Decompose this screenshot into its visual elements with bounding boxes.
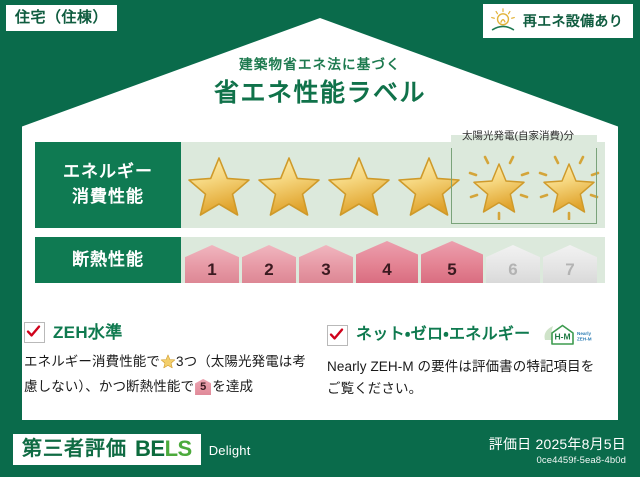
nze-checkbox: [327, 325, 348, 346]
nze-section-title: ネット・ゼロ・エネルギー: [356, 327, 530, 343]
solar-generation-note: 太陽光発電(自家消費)分: [443, 131, 593, 142]
star-1: [185, 150, 253, 220]
check-icon: [329, 327, 344, 342]
bels-logo-be: BE: [135, 436, 165, 461]
star-2: [255, 150, 323, 220]
star-3: [325, 150, 393, 220]
sun-icon: [489, 8, 517, 34]
energy-performance-row: エネルギー 消費性能: [35, 142, 605, 228]
zeh-text-part1: エネルギー消費性能で: [24, 354, 160, 369]
svg-text:ZEH-M: ZEH-M: [577, 337, 592, 342]
net-zero-energy-section: ネット・ゼロ・エネルギー H-M Nearly ZEH-M Nearly ZEH…: [321, 322, 618, 400]
svg-text:Nearly: Nearly: [577, 331, 591, 336]
bels-logo: BELS: [135, 438, 192, 460]
zeh-section-header: ZEH水準: [24, 322, 307, 343]
insulation-badges-panel: 1 2 3 4 5 6 7: [181, 237, 605, 283]
label-title-block: 建築物省エネ法に基づく 省エネ性能ラベル: [0, 58, 640, 106]
svg-text:H-M: H-M: [555, 332, 571, 342]
insulation-badge-2: 2: [242, 245, 296, 283]
zeh-checkbox: [24, 322, 45, 343]
bottom-info-columns: ZEH水準 エネルギー消費性能で 3つ（太陽光発電は考慮しない）、かつ断熱性能で…: [24, 322, 618, 400]
footer-right-block: 評価日 2025年8月5日 0ce4459f-5ea8-4b0d: [489, 437, 626, 466]
insulation-badge-7: 7: [543, 245, 597, 283]
insulation-badge-6: 6: [486, 245, 540, 283]
energy-performance-label: エネルギー 消費性能: [35, 142, 181, 228]
bels-logo-ls: LS: [165, 436, 192, 461]
company-name: Delight: [209, 443, 251, 458]
nze-section-header: ネット・ゼロ・エネルギー H-M Nearly ZEH-M: [327, 322, 604, 348]
evaluation-date-value: 2025年8月5日: [535, 436, 626, 452]
star-icon: [160, 353, 176, 376]
renewable-equipment-badge: 再エネ設備あり: [483, 4, 633, 38]
zeh-text-part3: を達成: [212, 379, 253, 394]
energy-label-line2: 消費性能: [72, 185, 144, 210]
insulation-badge-list: 1 2 3 4 5 6 7: [181, 237, 597, 283]
third-party-eval-label: 第三者評価: [22, 439, 127, 459]
zeh-inline-badge: 5: [195, 379, 211, 395]
evaluation-id: 0ce4459f-5ea8-4b0d: [489, 455, 626, 466]
star-6-solar: [535, 150, 603, 220]
insulation-performance-row: 断熱性能 1 2 3 4 5 6 7: [35, 237, 605, 283]
star-4: [395, 150, 463, 220]
insulation-label-text: 断熱性能: [72, 248, 144, 273]
nearly-zeh-m-logo: H-M Nearly ZEH-M: [542, 322, 596, 348]
zeh-standard-section: ZEH水準 エネルギー消費性能で 3つ（太陽光発電は考慮しない）、かつ断熱性能で…: [24, 322, 321, 400]
insulation-badge-5: 5: [421, 241, 483, 283]
energy-performance-stars-panel: 太陽光発電(自家消費)分: [181, 142, 605, 228]
bels-badge: 第三者評価 BELS: [13, 434, 201, 465]
energy-label-line1: エネルギー: [63, 160, 153, 185]
insulation-performance-label: 断熱性能: [35, 237, 181, 283]
check-icon: [26, 324, 41, 339]
metric-rows: エネルギー 消費性能: [35, 142, 605, 292]
footer-left-block: 第三者評価 BELS Delight: [13, 434, 251, 465]
evaluation-date: 評価日 2025年8月5日: [489, 437, 626, 452]
insulation-badge-3: 3: [299, 245, 353, 283]
evaluation-date-label: 評価日: [489, 436, 532, 452]
label-subtitle: 建築物省エネ法に基づく: [0, 58, 640, 72]
label-main-title: 省エネ性能ラベル: [0, 81, 640, 106]
insulation-badge-4: 4: [356, 241, 418, 283]
energy-performance-label: 住宅（住棟） 再エネ設備あり 建築物省エネ法に基づく 省エネ性能ラベル いえ: [0, 0, 640, 477]
nze-section-text: Nearly ZEH-M の要件は評価書の特記項目をご覧ください。: [327, 356, 604, 400]
insulation-badge-1: 1: [185, 245, 239, 283]
building-type-badge: 住宅（住棟）: [6, 5, 117, 31]
zeh-section-text: エネルギー消費性能で 3つ（太陽光発電は考慮しない）、かつ断熱性能で5を達成: [24, 351, 307, 398]
star-rating: [181, 150, 603, 220]
star-5-solar: [465, 150, 533, 220]
renewable-badge-label: 再エネ設備あり: [523, 14, 623, 28]
zeh-section-title: ZEH水準: [53, 324, 123, 341]
